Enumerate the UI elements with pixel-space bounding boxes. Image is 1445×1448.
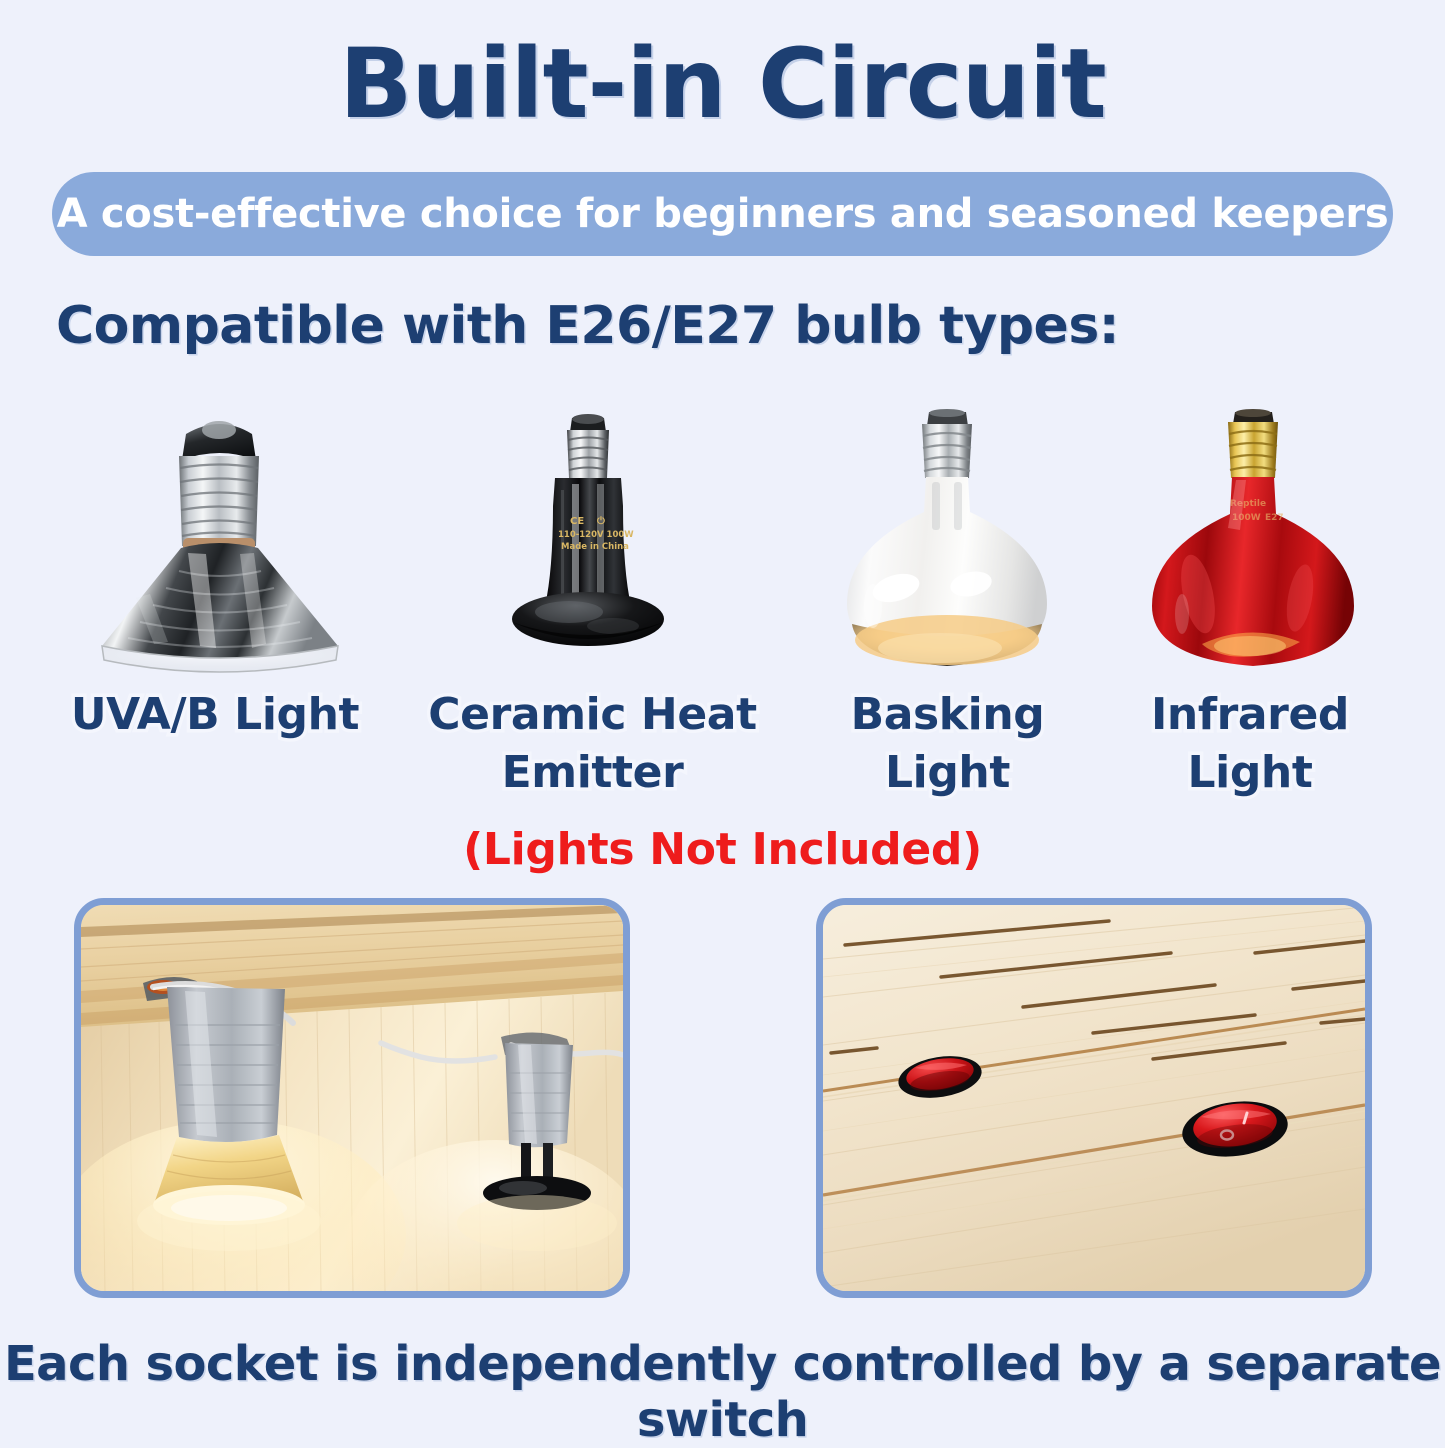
basking-light-bulb-icon [840,408,1055,680]
bulb-item-uva-b [75,390,365,680]
subtitle-text: A cost-effective choice for beginners an… [57,191,1389,237]
svg-text:E27: E27 [1265,513,1284,523]
rocker-switches-photo [816,898,1372,1298]
bulb-label-line1: Basking [835,686,1060,744]
bulb-label-line1: Ceramic Heat [405,686,780,744]
svg-text:⏻: ⏻ [597,515,605,527]
lights-not-included-note: (Lights Not Included) [0,824,1445,875]
bulb-label-basking-light: Basking Light [835,686,1060,802]
rocker-switches-illustration [823,905,1365,1291]
installed-sockets-photo [74,898,630,1298]
bulb-label-line2: Emitter [405,744,780,802]
bulb-label-infrared-light: Infrared Light [1125,686,1375,802]
bulb-label-ceramic-heat-emitter: Ceramic Heat Emitter [405,686,780,802]
svg-text:110-120V 100W: 110-120V 100W [558,530,634,540]
bulb-item-basking-light [830,390,1065,680]
ceramic-heat-emitter-icon: CE ⏻ 110-120V 100W Made in China [473,410,703,680]
bulb-item-ceramic-heat-emitter: CE ⏻ 110-120V 100W Made in China [455,390,720,680]
installed-sockets-illustration [81,905,623,1291]
uva-b-reflector-bulb-icon [80,398,360,680]
compatibility-heading: Compatible with E26/E27 bulb types: [56,296,1119,356]
bulb-label-line2: Light [1125,744,1375,802]
bulb-gallery: CE ⏻ 110-120V 100W Made in China [0,390,1445,680]
footer-caption: Each socket is independently controlled … [0,1336,1445,1448]
bulb-label-row: UVA/B Light Ceramic Heat Emitter Basking… [0,686,1445,816]
bulb-label-line2: Light [835,744,1060,802]
page-title: Built-in Circuit [0,28,1445,140]
svg-text:CE: CE [570,516,584,527]
svg-text:Made in China: Made in China [561,542,629,552]
subtitle-banner: A cost-effective choice for beginners an… [52,172,1393,256]
bulb-item-infrared-light: Reptile 100W E27 [1130,390,1375,680]
bulb-label-line1: Infrared [1125,686,1375,744]
bulb-label-uva-b: UVA/B Light [40,686,390,744]
infrared-light-bulb-icon: Reptile 100W E27 [1140,408,1365,680]
